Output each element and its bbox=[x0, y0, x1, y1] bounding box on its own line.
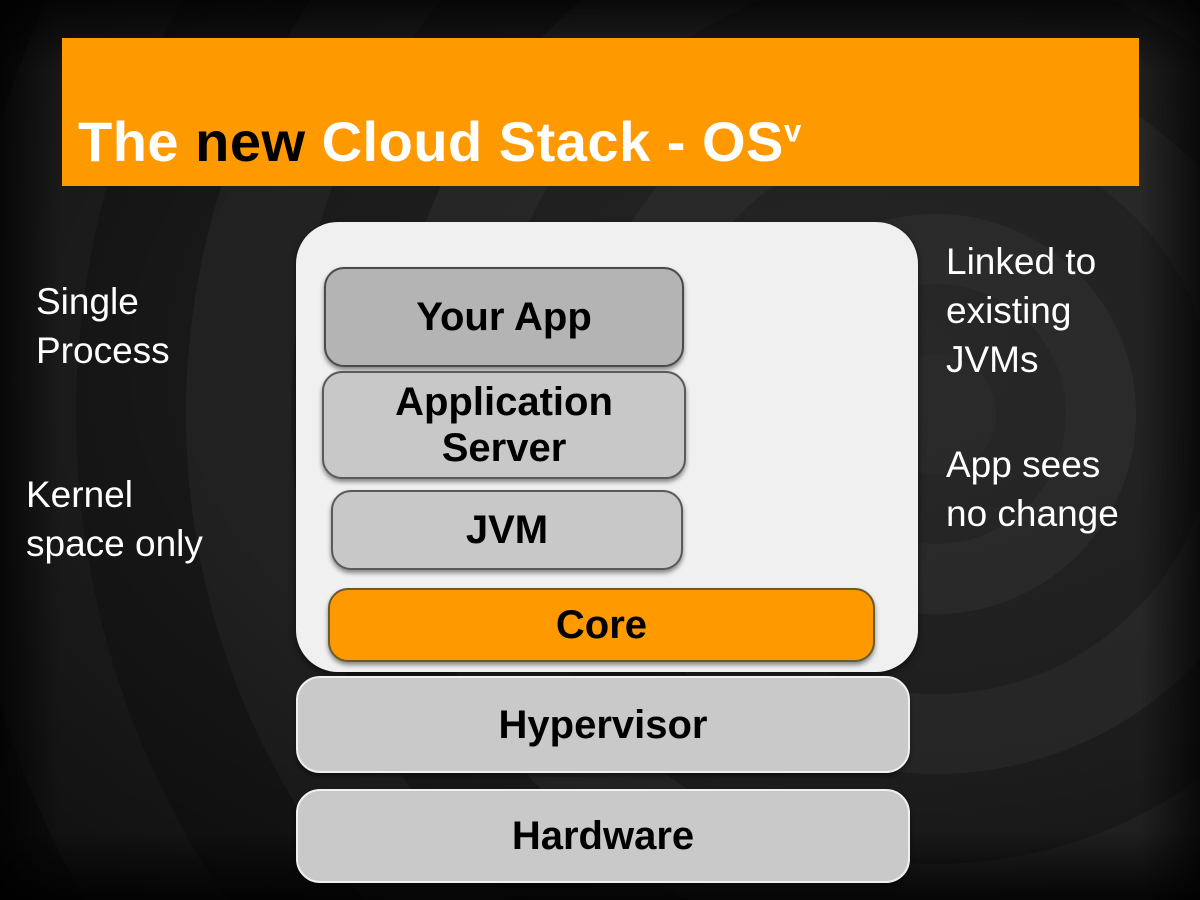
stack-box-hypervisor[interactable]: Hypervisor bbox=[296, 676, 910, 773]
title-banner: The new Cloud Stack - OSv bbox=[62, 38, 1139, 186]
title-accent-new: new bbox=[195, 110, 305, 173]
page-title: The new Cloud Stack - OSv bbox=[78, 114, 802, 170]
stack-box-application-server[interactable]: Application Server bbox=[322, 371, 686, 479]
slide-canvas: The new Cloud Stack - OSv Single Process… bbox=[0, 0, 1200, 900]
title-prefix: The bbox=[78, 110, 195, 173]
annotation-app-sees-no-change: App sees no change bbox=[946, 440, 1119, 538]
annotation-single-process: Single Process bbox=[36, 277, 170, 375]
title-superscript-v: v bbox=[784, 113, 802, 148]
stack-box-jvm[interactable]: JVM bbox=[331, 490, 683, 570]
title-suffix: Cloud Stack - OS bbox=[306, 110, 784, 173]
stack-box-your-app[interactable]: Your App bbox=[324, 267, 684, 367]
annotation-linked-to-existing-jvms: Linked to existing JVMs bbox=[946, 237, 1096, 385]
annotation-kernel-space-only: Kernel space only bbox=[26, 470, 203, 568]
stack-box-hardware[interactable]: Hardware bbox=[296, 789, 910, 883]
stack-box-core[interactable]: Core bbox=[328, 588, 875, 662]
